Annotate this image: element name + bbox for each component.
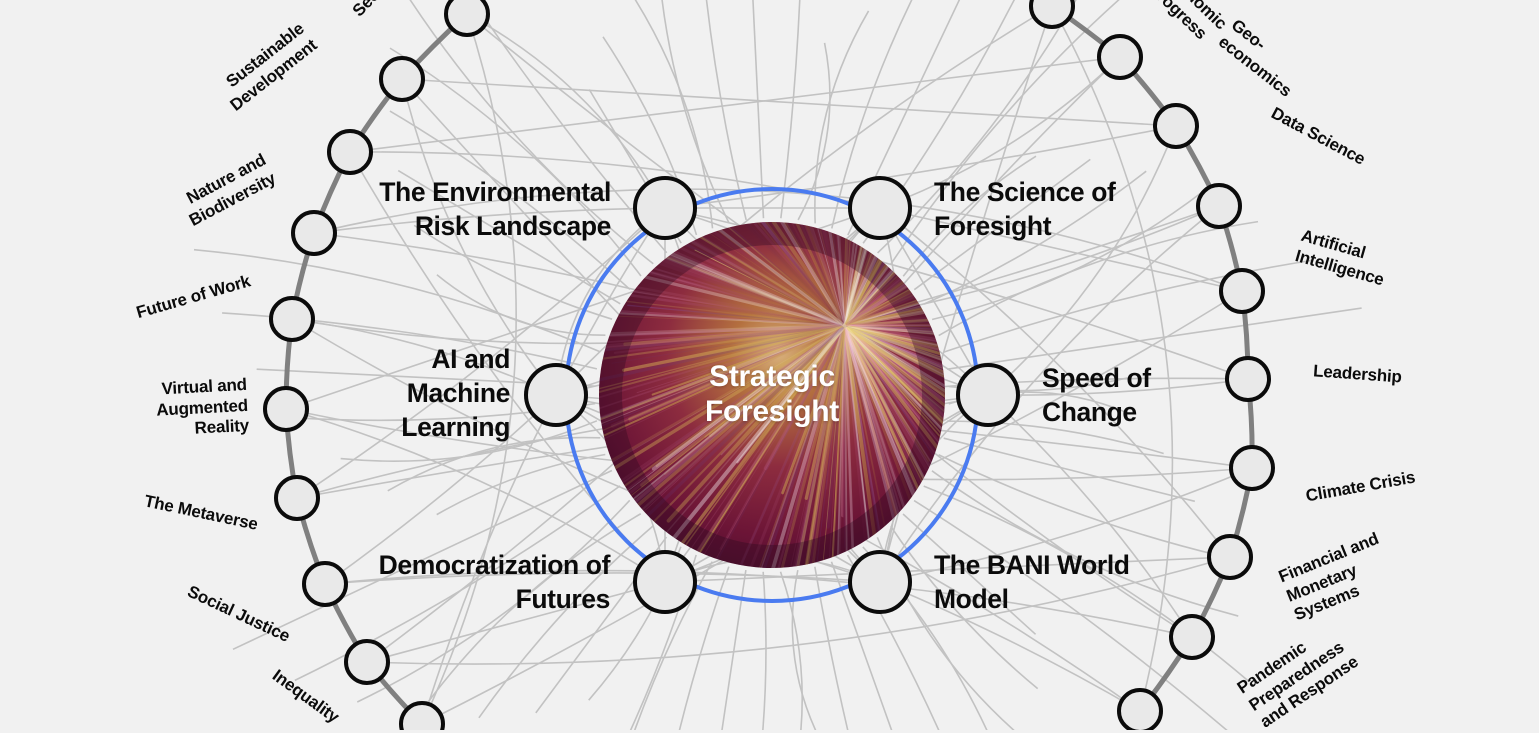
inner-node-label-democratization[interactable]: Democratization of Futures xyxy=(350,549,610,617)
inner-node-label-env-risk[interactable]: The Environmental Risk Landscape xyxy=(355,176,611,244)
outer-node-artificial-intel[interactable] xyxy=(1198,185,1240,227)
outer-node-right-extra-2[interactable] xyxy=(1119,690,1161,730)
inner-node-label-ai-ml[interactable]: AI and Machine Learning xyxy=(330,343,510,445)
inner-node-label-bani[interactable]: The BANI World Model xyxy=(934,549,1184,617)
outer-node-vr-ar[interactable] xyxy=(271,298,313,340)
outer-node-left-extra-1[interactable] xyxy=(346,641,388,683)
outer-node-financial-systems[interactable] xyxy=(1231,447,1273,489)
inner-node-democratization[interactable] xyxy=(635,552,695,612)
outer-node-social-justice[interactable] xyxy=(276,477,318,519)
outer-node-future-of-work[interactable] xyxy=(293,212,335,254)
outer-node-pandemic[interactable] xyxy=(1209,536,1251,578)
outer-node-geo-economics[interactable] xyxy=(1099,36,1141,78)
inner-node-bani[interactable] xyxy=(850,552,910,612)
outer-node-metaverse[interactable] xyxy=(265,388,307,430)
outer-node-economic-progress[interactable] xyxy=(1031,0,1073,27)
inner-node-label-science[interactable]: The Science of Foresight xyxy=(934,176,1190,244)
outer-node-right-extra-1[interactable] xyxy=(1171,616,1213,658)
inner-node-ai-ml[interactable] xyxy=(526,365,586,425)
outer-node-data-science[interactable] xyxy=(1155,105,1197,147)
diagram-canvas: Strategic Foresight The Environmental Ri… xyxy=(0,0,1539,730)
outer-node-sustainable[interactable] xyxy=(381,58,423,100)
outer-node-leadership[interactable] xyxy=(1221,270,1263,312)
inner-node-label-speed[interactable]: Speed of Change xyxy=(1042,362,1252,430)
inner-node-speed[interactable] xyxy=(958,365,1018,425)
outer-node-security[interactable] xyxy=(446,0,488,35)
outer-node-label-vr-ar[interactable]: Virtual and Augmented Reality xyxy=(126,375,249,443)
outer-node-left-extra-2[interactable] xyxy=(401,703,443,730)
outer-node-nature[interactable] xyxy=(329,131,371,173)
inner-node-env-risk[interactable] xyxy=(635,178,695,238)
outer-node-inequality[interactable] xyxy=(304,563,346,605)
inner-node-science[interactable] xyxy=(850,178,910,238)
